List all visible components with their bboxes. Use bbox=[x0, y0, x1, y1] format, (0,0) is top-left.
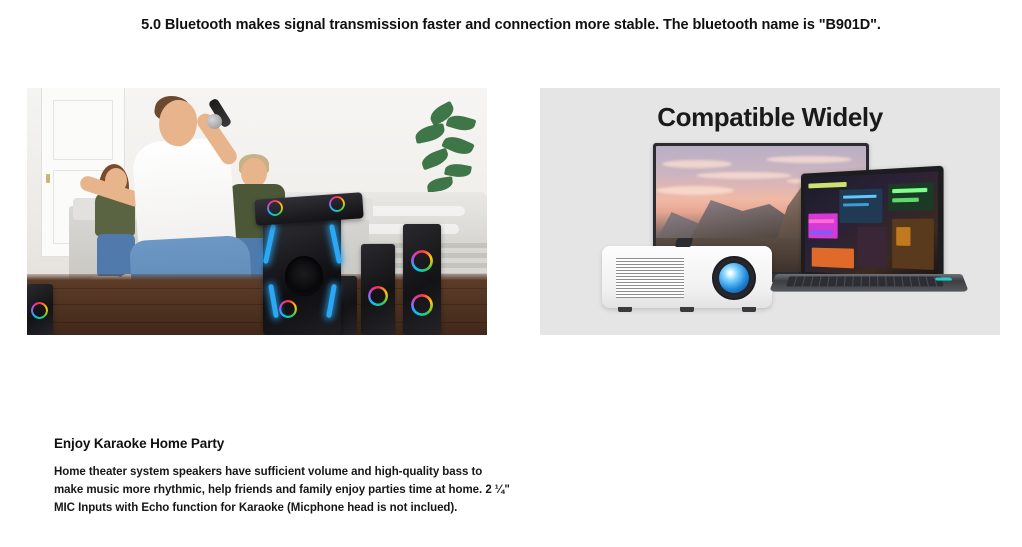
karaoke-party-photo bbox=[27, 88, 487, 335]
door-panel-upper bbox=[53, 100, 113, 160]
projector-lens-housing bbox=[712, 256, 756, 300]
projector-vents bbox=[616, 258, 684, 298]
compatible-devices-panel: Compatible Widely bbox=[540, 88, 1000, 335]
header-bluetooth-statement: 5.0 Bluetooth makes signal transmission … bbox=[0, 16, 1022, 34]
compatible-widely-banner-title: Compatible Widely bbox=[540, 102, 1000, 133]
projector bbox=[602, 246, 772, 308]
projector-focus-knob bbox=[675, 238, 694, 247]
projector-foot-left bbox=[618, 307, 632, 312]
laptop-base bbox=[769, 274, 969, 292]
gaming-laptop bbox=[776, 170, 962, 310]
door-knob bbox=[46, 174, 50, 183]
laptop-accent-light bbox=[935, 278, 952, 281]
projector-foot-right bbox=[742, 307, 756, 312]
laptop-keyboard bbox=[786, 276, 944, 286]
left-feature-column: Enjoy Karaoke Home Party Home theater sy… bbox=[27, 88, 487, 335]
laptop-screen-game-scene bbox=[805, 171, 938, 278]
left-caption-body: Home theater system speakers have suffic… bbox=[54, 463, 514, 517]
left-caption-title: Enjoy Karaoke Home Party bbox=[54, 436, 514, 451]
laptop-lid bbox=[801, 166, 944, 285]
projector-foot-center bbox=[680, 307, 694, 312]
projector-lens-glow bbox=[719, 263, 749, 293]
microphone-head-icon bbox=[207, 114, 222, 129]
speaker-satellite-2 bbox=[403, 224, 441, 335]
left-caption-block: Enjoy Karaoke Home Party Home theater sy… bbox=[54, 436, 514, 517]
speaker-woofer-cone bbox=[285, 256, 323, 296]
right-feature-column: Compatible Widely bbox=[540, 88, 1000, 335]
